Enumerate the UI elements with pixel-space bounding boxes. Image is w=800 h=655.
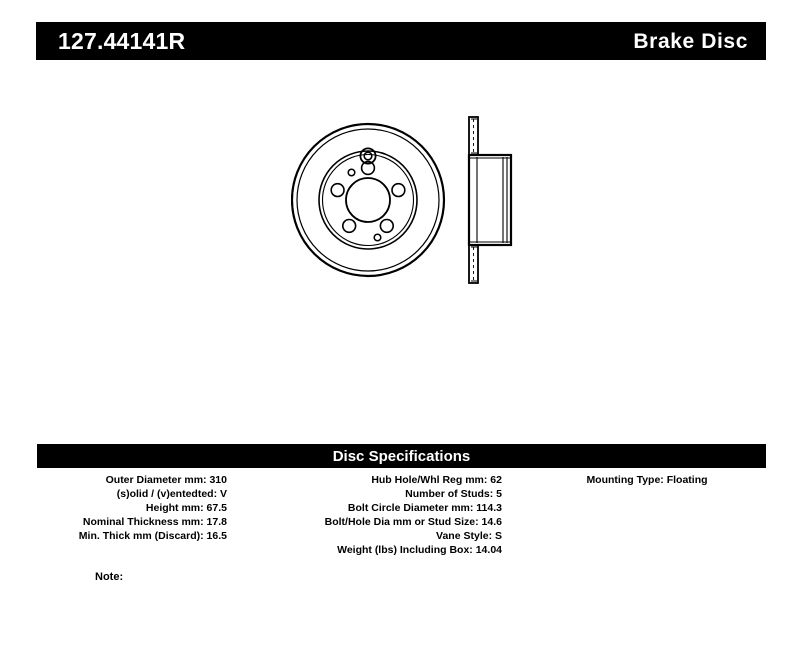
spec-title-bar: Disc Specifications [37,444,766,468]
stud-hole [343,220,356,233]
spec-row: Outer Diameter mm: 310 [37,473,227,487]
brake-disc-technical-drawing [291,100,521,300]
hub-bore [346,178,390,222]
section-hatching [470,119,510,281]
header-bar: 127.44141R Brake Disc [36,22,766,60]
spec-column-left: Outer Diameter mm: 310 (s)olid / (v)ente… [37,473,227,543]
note-value [123,571,129,583]
spec-row: Number of Studs: 5 [237,487,502,501]
stud-hole [331,184,344,197]
product-type-label: Brake Disc [633,31,748,52]
retaining-screw-hole [374,234,381,241]
drawing-area [36,80,766,420]
spec-row: Nominal Thickness mm: 17.8 [37,515,227,529]
spec-section-title: Disc Specifications [333,449,471,464]
spec-row: Hub Hole/Whl Reg mm: 62 [237,473,502,487]
spec-row: Weight (lbs) Including Box: 14.04 [237,543,502,557]
pilot-boss-inner [364,152,372,160]
spec-row: (s)olid / (v)entedted: V [37,487,227,501]
spec-row: Vane Style: S [237,529,502,543]
retaining-screw-hole [348,169,355,176]
rotor-body-section [469,155,511,245]
spec-row: Mounting Type: Floating [528,473,766,487]
rotor-outer-edge [292,124,444,276]
part-number: 127.44141R [58,30,185,53]
spec-row: Height mm: 67.5 [37,501,227,515]
spec-row: Bolt/Hole Dia mm or Stud Size: 14.6 [237,515,502,529]
spec-columns: Outer Diameter mm: 310 (s)olid / (v)ente… [37,473,766,557]
note-row: Note: [95,570,129,584]
spec-column-center: Hub Hole/Whl Reg mm: 62 Number of Studs:… [237,473,502,557]
spec-row: Bolt Circle Diameter mm: 114.3 [237,501,502,515]
spec-row: Min. Thick mm (Discard): 16.5 [37,529,227,543]
hat-outer-ring [323,155,414,246]
spec-column-right: Mounting Type: Floating [502,473,766,487]
friction-band-inner-edge [319,151,417,249]
stud-hole [380,220,393,233]
note-label: Note: [95,571,123,583]
stud-hole [392,184,405,197]
